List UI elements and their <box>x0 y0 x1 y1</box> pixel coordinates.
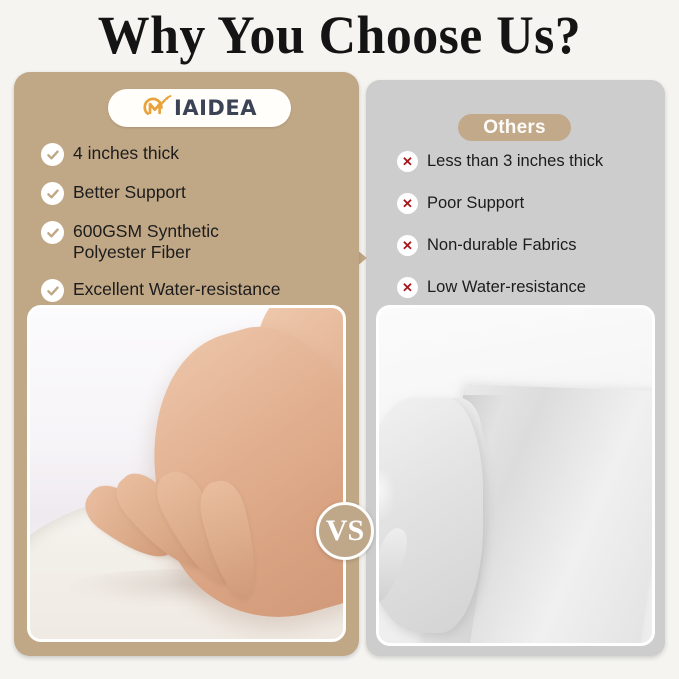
list-item: ✕ Less than 3 inches thick <box>397 150 659 172</box>
others-photo-canvas <box>379 308 652 643</box>
brand-logo: IAIDEA <box>108 89 291 127</box>
vs-badge: VS <box>316 502 374 560</box>
check-icon <box>41 143 64 166</box>
others-product-photo <box>376 305 655 646</box>
check-icon <box>41 221 64 244</box>
cons-item-label: Less than 3 inches thick <box>427 150 603 172</box>
check-icon <box>41 182 64 205</box>
comparison-board: Others ✕ Less than 3 inches thick ✕ Poor… <box>0 72 679 662</box>
brand-wordmark: IAIDEA <box>174 96 257 120</box>
others-heading-label: Others <box>483 117 545 139</box>
cross-icon: ✕ <box>397 193 418 214</box>
others-panel: Others ✕ Less than 3 inches thick ✕ Poor… <box>366 80 665 656</box>
list-item: ✕ Low Water-resistance <box>397 276 659 298</box>
cons-list: ✕ Less than 3 inches thick ✕ Poor Suppor… <box>397 150 659 318</box>
pros-item-label: 4 inches thick <box>73 142 179 164</box>
cross-icon: ✕ <box>397 151 418 172</box>
cons-item-label: Non-durable Fabrics <box>427 234 576 256</box>
knuckle-shape <box>379 469 396 521</box>
list-item: ✕ Poor Support <box>397 192 659 214</box>
pros-list: 4 inches thick Better Support 600GSM Syn… <box>41 142 351 317</box>
list-item: Better Support <box>41 181 351 205</box>
cons-item-label: Low Water-resistance <box>427 276 586 298</box>
pinching-hand-shape <box>379 398 483 633</box>
list-item: Excellent Water-resistance <box>41 278 351 302</box>
iaidea-signal-m-icon <box>142 94 172 122</box>
vs-badge-label: VS <box>326 516 364 546</box>
pros-item-label: Excellent Water-resistance <box>73 278 280 300</box>
brand-photo-canvas <box>30 308 343 639</box>
list-item: 4 inches thick <box>41 142 351 166</box>
page-title: Why You Choose Us? <box>14 6 666 64</box>
pros-item-label: Better Support <box>73 181 186 203</box>
thumb-shape <box>379 525 412 607</box>
cons-item-label: Poor Support <box>427 192 524 214</box>
cross-icon: ✕ <box>397 277 418 298</box>
list-item: 600GSM Synthetic Polyester Fiber <box>41 220 351 263</box>
brand-product-photo <box>27 305 346 642</box>
check-icon <box>41 279 64 302</box>
others-heading-pill: Others <box>458 114 571 141</box>
brand-panel: IAIDEA 4 inches thick Better Support <box>14 72 359 656</box>
pros-item-label: 600GSM Synthetic Polyester Fiber <box>73 220 219 263</box>
list-item: ✕ Non-durable Fabrics <box>397 234 659 256</box>
cross-icon: ✕ <box>397 235 418 256</box>
